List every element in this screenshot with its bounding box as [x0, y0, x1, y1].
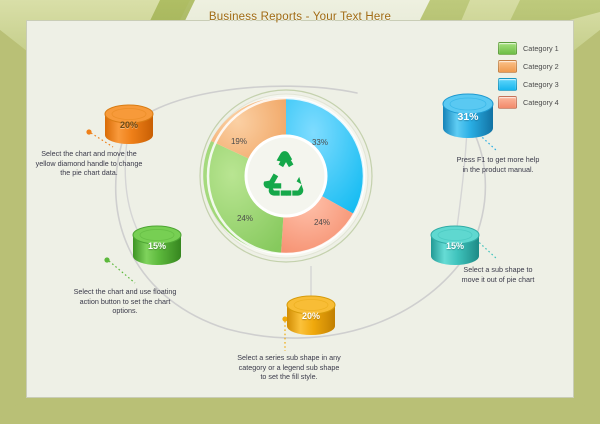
legend-swatch-category-4: [498, 96, 517, 109]
legend-label: Category 4: [523, 98, 559, 107]
callout-cylinder-top-right[interactable]: 31%: [441, 93, 495, 141]
pie-label-category-4: 24%: [314, 218, 330, 227]
callout-caption-bottom-left: Select the chart and use floating action…: [71, 287, 179, 316]
pie-chart[interactable]: 33% 24% 24% 19%: [186, 86, 386, 266]
pie-label-category-2: 19%: [231, 137, 247, 146]
pie-label-category-3: 33%: [312, 138, 328, 147]
legend-swatch-category-1: [498, 42, 517, 55]
callout-cylinder-bottom-center[interactable]: 20%: [285, 295, 337, 337]
legend-swatch-category-2: [498, 60, 517, 73]
chart-canvas: Category 1 Category 2 Category 3 Categor…: [26, 20, 574, 398]
pie-label-category-1: 24%: [237, 214, 253, 223]
leader-dot-bottom-left: [104, 257, 109, 262]
legend-label: Category 2: [523, 62, 559, 71]
legend-item[interactable]: Category 3: [498, 77, 559, 92]
legend-label: Category 1: [523, 44, 559, 53]
legend-swatch-category-3: [498, 78, 517, 91]
callout-caption-top-right: Press F1 to get more help in the product…: [455, 155, 541, 174]
legend-item[interactable]: Category 1: [498, 41, 559, 56]
legend-item[interactable]: Category 2: [498, 59, 559, 74]
leader-dot-top-left: [86, 129, 91, 134]
callout-cylinder-bottom-left[interactable]: 15%: [131, 225, 183, 267]
callout-caption-right-bottom: Select a sub shape to move it out of pie…: [455, 265, 541, 284]
callout-cylinder-top-left[interactable]: 20%: [103, 104, 155, 146]
chart-legend: Category 1 Category 2 Category 3 Categor…: [498, 41, 559, 113]
infographic-page: Business Reports - Your Text Here: [0, 0, 600, 424]
callout-caption-bottom-center: Select a series sub shape in any categor…: [237, 353, 341, 382]
legend-label: Category 3: [523, 80, 559, 89]
callout-caption-top-left: Select the chart and move the yellow dia…: [35, 149, 143, 178]
callout-cylinder-right-bottom[interactable]: 15%: [429, 225, 481, 267]
legend-item[interactable]: Category 4: [498, 95, 559, 110]
